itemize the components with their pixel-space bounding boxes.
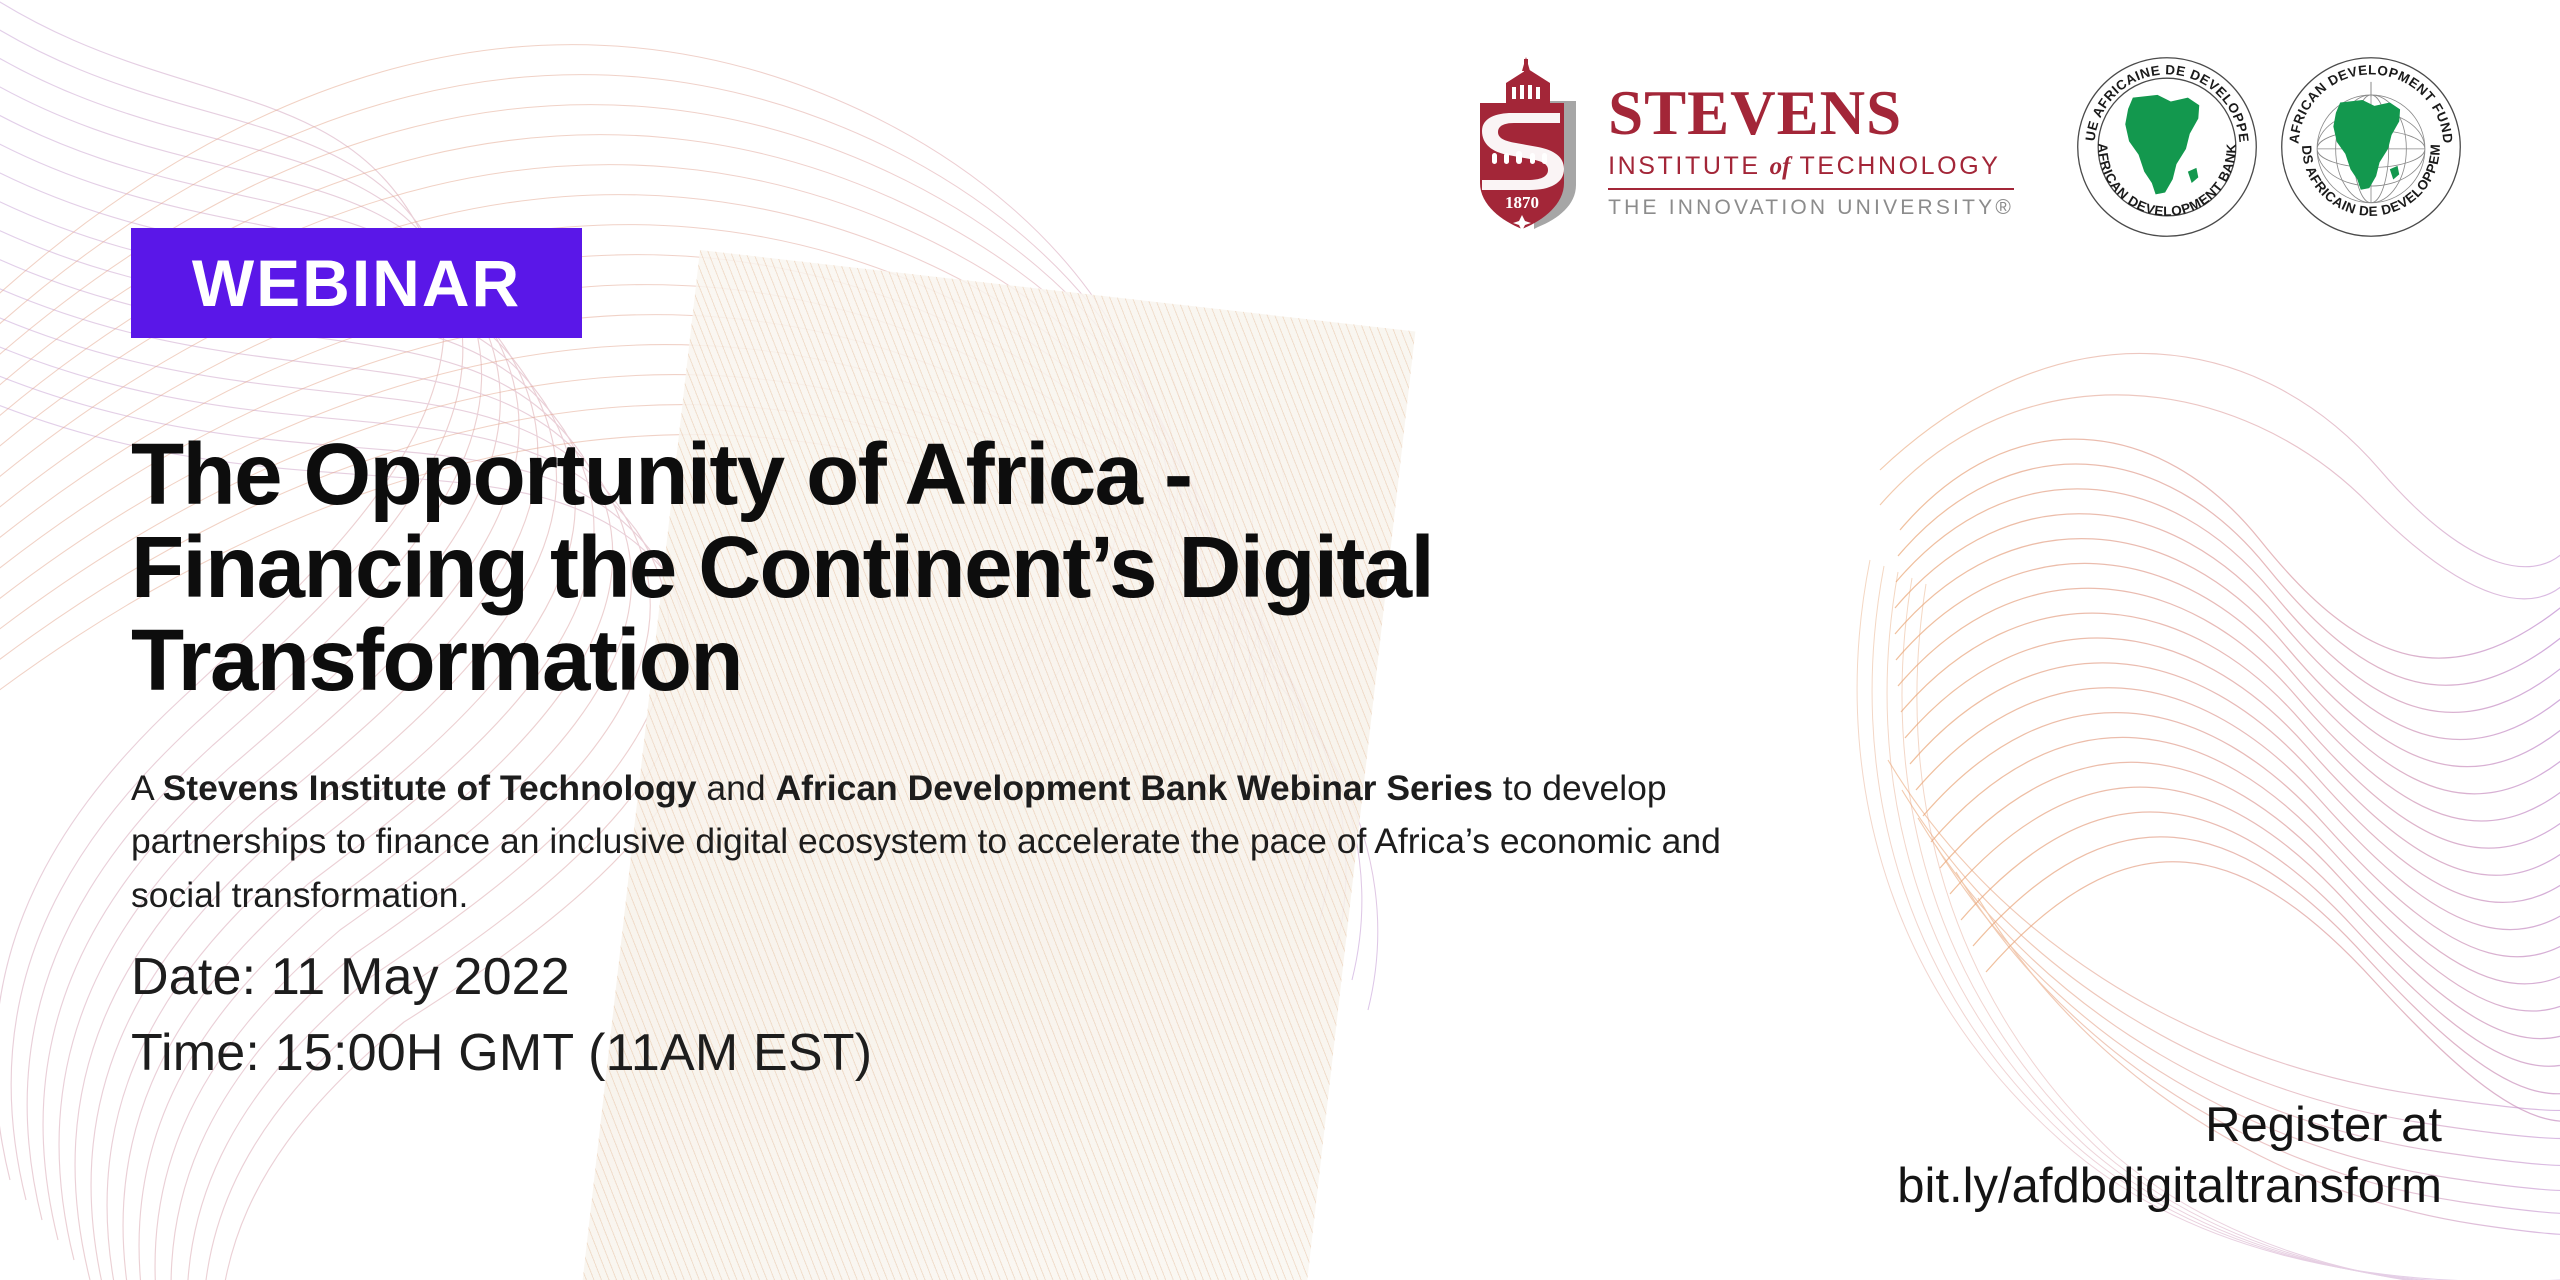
description-paragraph: A Stevens Institute of Technology and Af…	[131, 762, 1731, 924]
event-details: Date: 11 May 2022 Time: 15:00H GMT (11AM…	[131, 940, 1331, 1092]
webinar-badge-label: WEBINAR	[192, 250, 521, 316]
blurb-lead: A	[131, 768, 163, 808]
blurb-bold-afdb: African Development Bank Webinar Series	[775, 768, 1492, 808]
poster-content: WEBINAR The Opportunity of Africa - Fina…	[0, 0, 2560, 1280]
registration-callout: Register at bit.ly/afdbdigitaltransform	[1897, 1095, 2442, 1218]
register-label: Register at	[1897, 1095, 2442, 1157]
blurb-mid: and	[696, 768, 775, 808]
page-title: The Opportunity of Africa - Financing th…	[131, 428, 1751, 707]
register-url[interactable]: bit.ly/afdbdigitaltransform	[1897, 1156, 2442, 1218]
event-time: Time: 15:00H GMT (11AM EST)	[131, 1016, 1331, 1092]
event-date: Date: 11 May 2022	[131, 940, 1331, 1016]
webinar-badge: WEBINAR	[131, 228, 582, 338]
blurb-bold-stevens: Stevens Institute of Technology	[163, 768, 697, 808]
webinar-poster: 1870 STEVENS INSTITUTE of TECHNOLOGY THE…	[0, 0, 2560, 1280]
